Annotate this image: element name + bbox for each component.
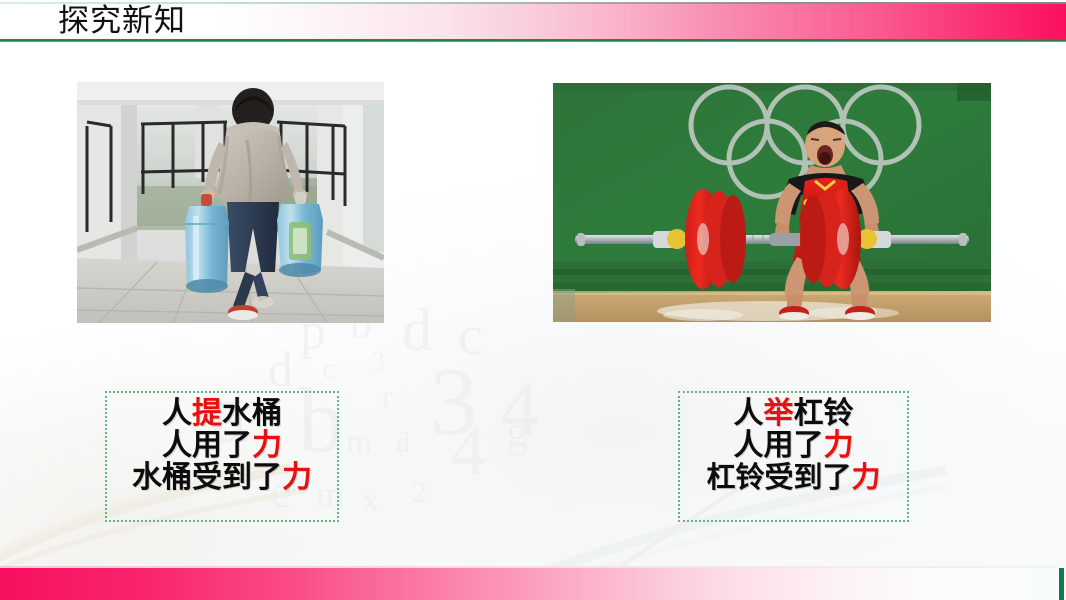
- caption-left-line-2: 人用了力: [107, 430, 337, 462]
- caption-right-line-3: 杠铃受到了力: [680, 462, 907, 493]
- caption-right-line-1: 人举杠铃: [680, 398, 907, 430]
- page-title: 探究新知: [58, 2, 186, 40]
- caption-right-line1-pre: 人: [734, 396, 764, 431]
- caption-left-line1-pre: 人: [162, 396, 192, 431]
- caption-right-line3-pre: 杠铃受到了: [706, 460, 851, 494]
- caption-right-line1-highlight: 举: [764, 396, 794, 431]
- caption-right-line1-post: 杠铃: [794, 396, 854, 431]
- caption-left-line-3: 水桶受到了力: [107, 462, 337, 494]
- photo-weightlifter: CHINA: [553, 83, 991, 322]
- caption-left-line2-highlight: 力: [252, 428, 282, 463]
- photo-weightlifter-art: CHINA: [553, 83, 991, 322]
- footer-gradient-band: [0, 568, 1058, 600]
- photo-water-buckets-art: [77, 82, 384, 323]
- caption-left-line-1: 人提水桶: [107, 398, 337, 430]
- caption-right-line3-highlight: 力: [852, 460, 881, 494]
- caption-left-line3-pre: 水桶受到了: [132, 460, 282, 495]
- caption-left-line1-highlight: 提: [192, 396, 222, 431]
- caption-right-line-2: 人用了力: [680, 430, 907, 462]
- caption-left-line2-pre: 人用了: [162, 428, 252, 463]
- caption-box-left: 人提水桶 人用了力 水桶受到了力: [105, 391, 339, 522]
- caption-left-line3-highlight: 力: [282, 460, 312, 495]
- footer-green-tick: [1059, 568, 1064, 600]
- photo-water-buckets: [77, 82, 384, 323]
- caption-box-right: 人举杠铃 人用了力 杠铃受到了力: [678, 391, 909, 522]
- caption-left-line1-post: 水桶: [222, 396, 282, 431]
- caption-right-line2-highlight: 力: [824, 428, 854, 463]
- caption-right-line2-pre: 人用了: [734, 428, 824, 463]
- slide-root: p b d c d c 3 a b r 3 4 m d 4 g e m 2 x …: [0, 0, 1066, 600]
